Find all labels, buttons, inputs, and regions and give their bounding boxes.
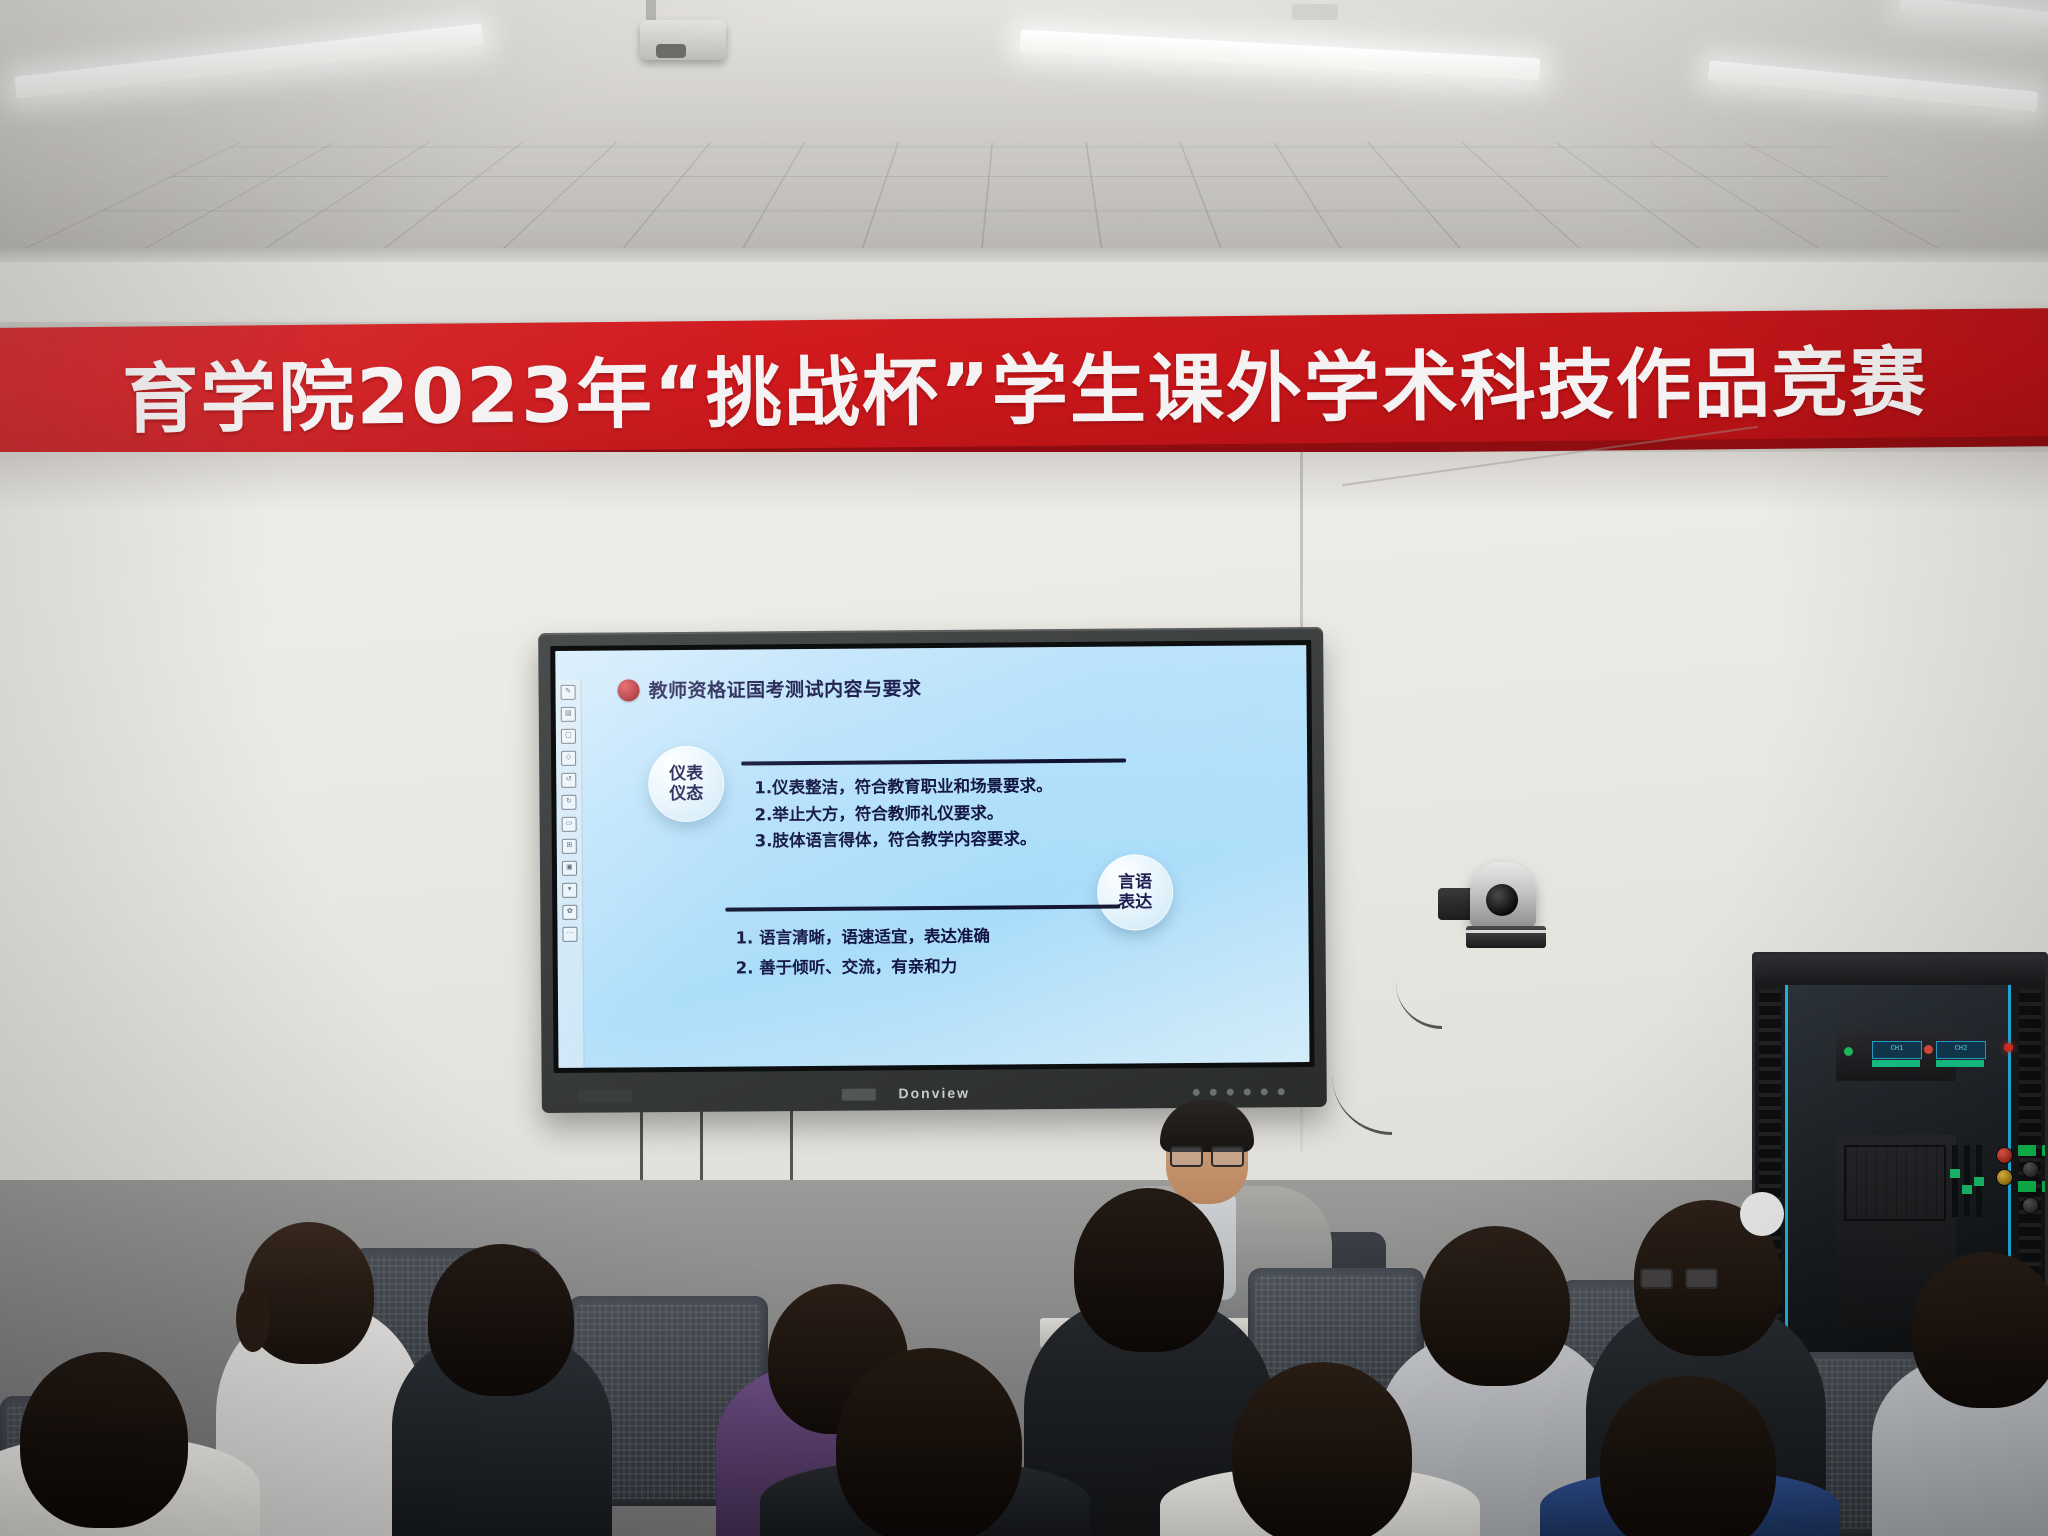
section-bubble-yibiao: 仪表 仪态 [648,746,725,823]
section-1-list: 1.仪表整洁，符合教育职业和场景要求。 2.举止大方，符合教师礼仪要求。 3.肢… [754,773,1053,855]
mixer-fader-2[interactable] [1964,1145,1970,1217]
mixer-led-1 [2018,1145,2036,1156]
eraser-icon[interactable]: ▤ [561,707,576,722]
bubble-line-2: 表达 [1118,892,1152,912]
mixer-knob-4[interactable] [2022,1197,2039,1214]
list-item: 1.仪表整洁，符合教育职业和场景要求。 [754,773,1052,802]
panel-button-source[interactable] [1261,1088,1268,1095]
audience-head [20,1352,188,1528]
audience-head [1232,1362,1412,1536]
bullet-dot-icon [617,679,639,701]
audience-hair-tie [236,1286,270,1352]
bubble-line-1: 言语 [1118,872,1152,892]
amp-display-ch1: CH1 [1872,1041,1922,1059]
amp-led-power [2004,1043,2013,1052]
more-icon[interactable]: ⋯ [562,927,577,942]
panel-button-menu[interactable] [1210,1089,1217,1096]
audience-head [1074,1188,1224,1352]
settings-icon[interactable]: ✿ [562,905,577,920]
panel-sensor [842,1088,876,1100]
panel-bezel: ✎ ▤ ▢ ◇ ↺ ↻ ▭ ⊞ ▣ ▾ ✿ ⋯ 教师资格证国考测试内容与要求 [550,640,1314,1073]
amp-meter-ch2 [1936,1060,1984,1067]
slide-title: 教师资格证国考测试内容与要求 [617,674,921,703]
mixer-led-5 [2042,1181,2048,1192]
wall-shadow [0,452,2048,512]
page-icon[interactable]: ▭ [562,817,577,832]
slide-title-text: 教师资格证国考测试内容与要求 [648,674,921,703]
mixer-led-2 [2042,1145,2048,1156]
save-icon[interactable]: ▾ [562,883,577,898]
amp-led-green [1844,1047,1853,1056]
pen-icon[interactable]: ✎ [561,685,576,700]
amp-meter-ch1 [1872,1060,1920,1067]
mixer-fader-1[interactable] [1952,1145,1958,1217]
shapes-icon[interactable]: ◇ [561,751,576,766]
section-rule-top [741,758,1126,765]
bubble-line-2: 仪态 [669,784,703,804]
audience-head [1420,1226,1570,1386]
audience-head [428,1244,574,1396]
rack-top-panel [1755,955,2045,981]
mixer-knob-1[interactable] [2022,1161,2039,1178]
audience-head [1912,1252,2048,1408]
screen-glare [555,645,1309,1068]
amp-led-red-1 [1924,1045,1933,1054]
image-icon[interactable]: ▣ [562,861,577,876]
panel-button-home[interactable] [1278,1088,1285,1095]
rack-amplifier[interactable]: CH1 CH2 [1836,1029,1956,1081]
smoke-detector-icon [1292,4,1338,20]
panel-label-left [578,1089,632,1102]
event-banner: 育学院2023年“挑战杯”学生课外学术科技作品竞赛 [0,308,2048,460]
amp-display-ch2: CH2 [1936,1041,1986,1059]
audience-glasses-icon [1640,1268,1718,1285]
grid-icon[interactable]: ⊞ [562,839,577,854]
audience-head [836,1348,1022,1536]
list-item: 2. 善于倾听、交流，有亲和力 [736,951,991,983]
mixer-led-4 [2018,1181,2036,1192]
undo-icon[interactable]: ↺ [561,773,576,788]
panel-button-vol-up[interactable] [1244,1089,1251,1096]
presenter-glasses-icon [1170,1146,1244,1163]
mixer-knob-yellow[interactable] [1996,1169,2013,1186]
mixer-lcd-screen[interactable] [1844,1145,1946,1221]
panel-button-row[interactable] [1193,1088,1285,1096]
redo-icon[interactable]: ↻ [561,795,576,810]
mixer-knob-red[interactable] [1996,1147,2013,1164]
panel-button-power[interactable] [1193,1089,1200,1096]
list-item: 3.肢体语言得体，符合教学内容要求。 [755,826,1053,855]
bubble-line-1: 仪表 [669,764,703,784]
section-2-list: 1. 语言清晰，语速适宜，表达准确 2. 善于倾听、交流，有亲和力 [735,922,990,983]
select-icon[interactable]: ▢ [561,729,576,744]
section-rule-bottom [725,905,1120,912]
panel-brand-logo: Donview [898,1085,970,1102]
mixer-fader-3[interactable] [1976,1145,1982,1217]
ptz-camera-stripe [1466,930,1546,933]
panel-toolbar[interactable]: ✎ ▤ ▢ ◇ ↺ ↻ ▭ ⊞ ▣ ▾ ✿ ⋯ [555,679,584,1068]
photo-scene: 育学院2023年“挑战杯”学生课外学术科技作品竞赛 ✎ ▤ ▢ ◇ ↺ ↻ ▭ [0,0,2048,1536]
camera-lens-icon [1486,884,1518,916]
interactive-flat-panel[interactable]: ✎ ▤ ▢ ◇ ↺ ↻ ▭ ⊞ ▣ ▾ ✿ ⋯ 教师资格证国考测试内容与要求 [538,627,1327,1113]
list-item: 2.举止大方，符合教师礼仪要求。 [754,800,1052,829]
audience-hair-clip [1740,1192,1784,1236]
section-bubble-yanyu: 言语 表达 [1097,854,1174,931]
projector-lens-icon [656,44,686,58]
panel-button-vol-down[interactable] [1227,1089,1234,1096]
list-item: 1. 语言清晰，语速适宜，表达准确 [735,922,990,954]
ceiling-projector [640,20,726,60]
banner-title: 育学院2023年“挑战杯”学生课外学术科技作品竞赛 [0,308,2048,460]
slide-screen[interactable]: ✎ ▤ ▢ ◇ ↺ ↻ ▭ ⊞ ▣ ▾ ✿ ⋯ 教师资格证国考测试内容与要求 [555,645,1309,1068]
